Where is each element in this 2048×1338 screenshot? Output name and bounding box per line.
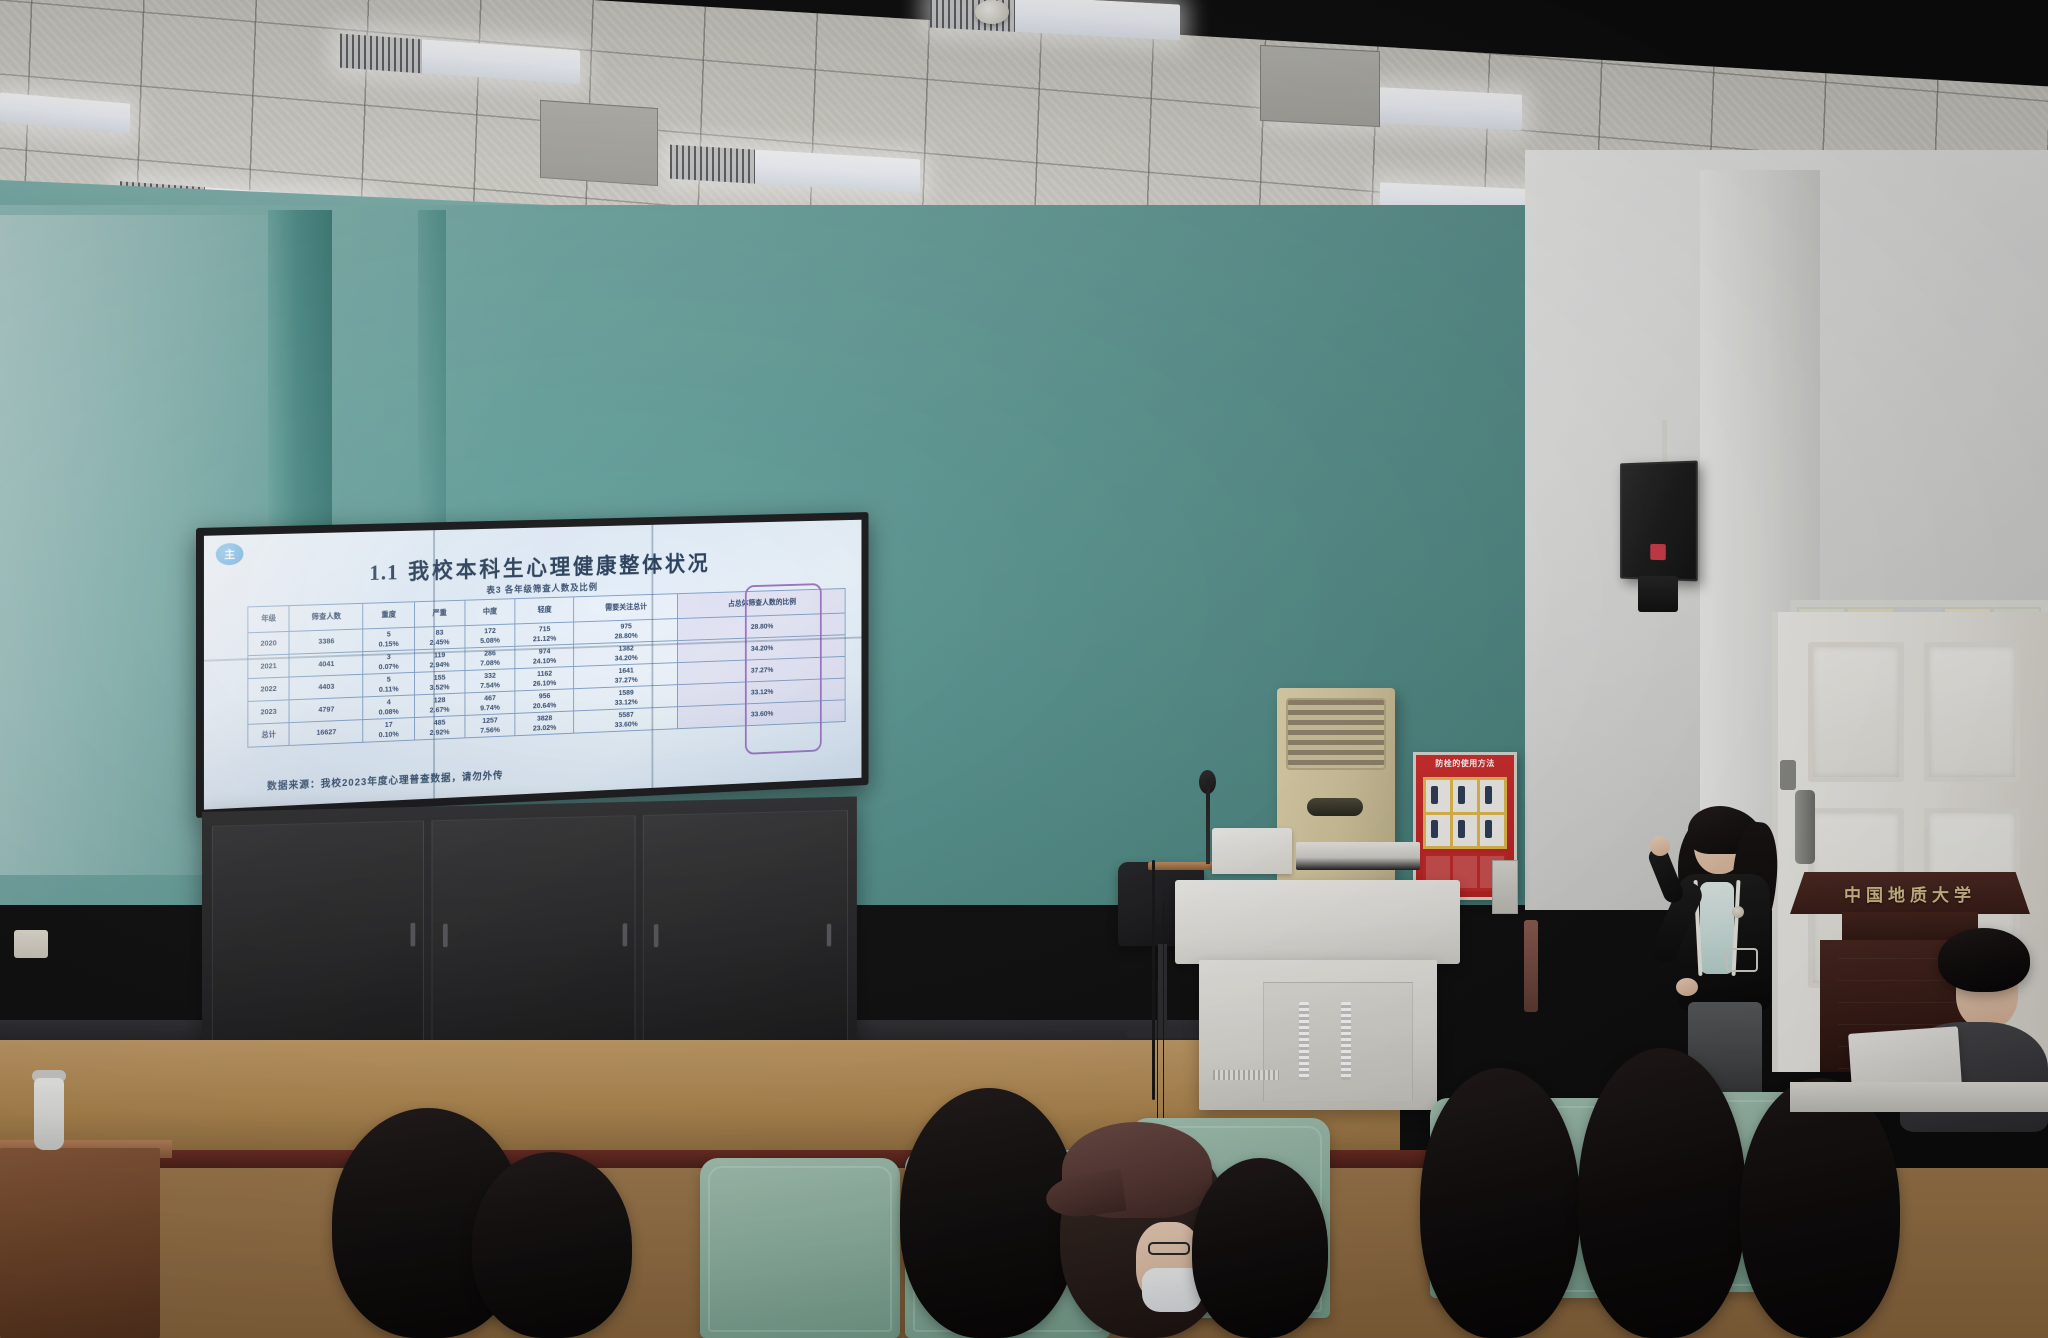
cell-year: 2020 [248, 631, 289, 655]
door-panel [1924, 642, 2020, 782]
lectern-podium [1175, 880, 1460, 1110]
col-header-moderate: 中度 [465, 599, 515, 626]
audience-table [1790, 1082, 2048, 1112]
poster-title: 防栓的使用方法 [1416, 758, 1514, 769]
speaker-bracket [1638, 576, 1678, 612]
cell-year: 总计 [248, 723, 289, 748]
screen-bezel: 主 1.1我校本科生心理健康整体状况 表3 各年级筛查人数及比例 年级 筛查人数… [196, 512, 868, 818]
poster-step [1480, 815, 1504, 847]
cell-year: 2023 [248, 700, 289, 724]
ceiling-vent [540, 100, 658, 186]
cell-percent: 2.92% [414, 727, 465, 740]
slide-footer: 数据来源：我校2023年度心理普查数据，请勿外传 [267, 767, 503, 793]
cabinet-knob[interactable] [411, 923, 416, 947]
poster-step [1480, 780, 1504, 812]
cell-percent: 0.10% [363, 729, 414, 742]
chair-post [1158, 944, 1167, 1032]
cell-screened: 3386 [289, 629, 363, 654]
podium-body [1199, 960, 1437, 1110]
paper-cup [34, 1078, 64, 1150]
cell-year: 2022 [248, 677, 289, 701]
presenter-raised-hand [1650, 836, 1670, 856]
psych-screening-table: 年级 筛查人数 重度 严重 中度 轻度 需要关注总计 占总体筛查人数的比例 20… [247, 588, 845, 748]
cell-percent: 23.02% [515, 722, 574, 736]
col-header-severe: 重度 [363, 602, 414, 629]
audience-head [1740, 1078, 1900, 1338]
audience-head [1938, 928, 2030, 992]
audience-seat[interactable] [700, 1158, 900, 1338]
door-lock-icon [1780, 760, 1796, 790]
podium-door[interactable] [1263, 982, 1413, 1102]
podium-side-vent [1213, 1070, 1279, 1080]
col-header-total: 需要关注总计 [574, 594, 678, 622]
cabinet-knob[interactable] [623, 923, 628, 946]
audience-head [1578, 1048, 1746, 1338]
slide-footer-label: 数据来源 [267, 780, 310, 793]
speaker-brand-badge [1650, 544, 1666, 560]
ceiling-vent [1260, 45, 1380, 127]
presenter-hand [1676, 978, 1698, 996]
slide-title-number: 1.1 [369, 560, 398, 585]
cell-percent: 7.56% [465, 724, 515, 737]
smoke-detector-icon [975, 0, 1009, 24]
col-header-screened: 筛查人数 [289, 603, 363, 631]
audience-head [472, 1152, 632, 1338]
slide-table-wrapper: 年级 筛查人数 重度 严重 中度 轻度 需要关注总计 占总体筛查人数的比例 20… [247, 588, 845, 748]
podium-vent [1341, 1002, 1351, 1080]
panel-seam [651, 525, 653, 788]
col-header-serious: 严重 [414, 600, 465, 627]
cell-screened: 4403 [289, 674, 363, 700]
door-handle[interactable] [1795, 790, 1815, 864]
podium-laptop[interactable] [1212, 828, 1292, 874]
university-name-sign: 中国地质大学 [1790, 881, 2030, 906]
baseball-cap [1062, 1122, 1212, 1218]
microphone-cable [1152, 860, 1155, 1100]
cabinet-knob[interactable] [654, 924, 659, 947]
fire-extinguisher-box [1492, 860, 1518, 914]
glasses-icon [1148, 1242, 1190, 1255]
wall-outlet [14, 930, 48, 958]
ac-grille [1286, 698, 1386, 770]
door-panel [1808, 642, 1904, 782]
lecture-hall-photo: 主 1.1我校本科生心理健康整体状况 表3 各年级筛查人数及比例 年级 筛查人数… [0, 0, 2048, 1338]
cabinet-knob[interactable] [443, 924, 448, 948]
cell-screened: 16627 [289, 719, 363, 745]
fire-extinguisher-stand [1524, 920, 1538, 1012]
table-body: 2020338658317271597528.80%0.15%2.45%5.08… [248, 613, 845, 747]
col-header-mild: 轻度 [515, 597, 574, 624]
podium-vent [1299, 1002, 1309, 1080]
poster-step [1426, 815, 1450, 847]
cell-screened: 4797 [289, 697, 363, 723]
gooseneck-microphone[interactable] [1206, 780, 1210, 864]
podium-monitor[interactable] [1296, 842, 1420, 870]
side-table [0, 1148, 160, 1338]
audience-head [900, 1088, 1078, 1338]
podium-top [1175, 880, 1460, 964]
audience-head [1420, 1068, 1580, 1338]
poster-steps-grid [1423, 777, 1507, 849]
wall-speaker [1620, 461, 1698, 582]
presentation-slide: 主 1.1我校本科生心理健康整体状况 表3 各年级筛查人数及比例 年级 筛查人数… [204, 520, 862, 810]
poster-step [1453, 780, 1477, 812]
ac-control-panel[interactable] [1307, 798, 1363, 816]
cardigan-pocket [1726, 948, 1758, 972]
panel-seam [433, 530, 435, 798]
poster-step [1426, 780, 1450, 812]
col-header-year: 年级 [248, 606, 289, 633]
brooch-icon [1732, 906, 1744, 918]
slide-footer-text: 我校2023年度心理普查数据，请勿外传 [321, 771, 504, 790]
audience-head [1192, 1158, 1328, 1338]
poster-step [1453, 815, 1477, 847]
cabinet-knob[interactable] [827, 924, 831, 947]
